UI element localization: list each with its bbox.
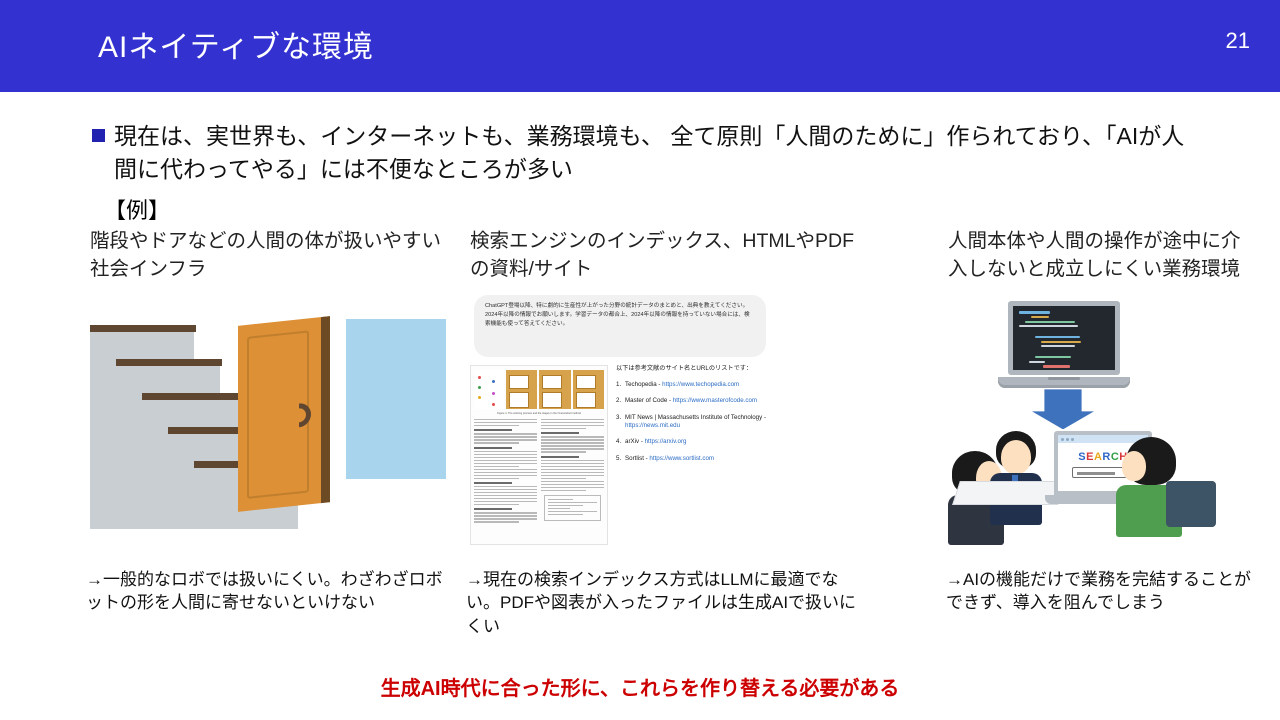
list-item: 2. Master of Code - https://www.masterof… xyxy=(616,397,770,405)
pdf-screenshot-strip-2 xyxy=(539,370,570,409)
pdf-page-thumbnail: Figure 1: The working process and the st… xyxy=(470,365,608,545)
list-item-label: Sortlist - xyxy=(625,455,649,462)
pdf-figure-row xyxy=(471,366,607,412)
slide-header: AIネイティブな環境 21 xyxy=(0,0,1280,92)
laptop-with-code-icon xyxy=(1008,301,1120,388)
list-item-label: Master of Code - xyxy=(625,397,673,404)
list-item-number: 5. xyxy=(616,455,625,463)
chat-prompt-bubble: ChatGPT登場以降、特に劇的に生産性が上がった分野の統計データのまとめと、出… xyxy=(474,295,766,357)
list-item-number: 3. xyxy=(616,414,625,431)
column-2-heading: 検索エンジンのインデックス、HTMLやPDFの資料/サイト xyxy=(470,228,870,283)
pdf-flow-diagram xyxy=(474,370,504,409)
door-frame-panel xyxy=(346,319,446,479)
door-shape xyxy=(238,317,330,513)
browser-back-icon[interactable] xyxy=(1061,438,1064,441)
column-2-caption: →現在の検索インデックス方式はLLMに最適でない。PDFや図表が入ったファイルは… xyxy=(466,568,858,638)
list-item-link[interactable]: https://www.sortlist.com xyxy=(649,455,714,462)
laptop-trackpad xyxy=(1048,377,1080,380)
list-item: 3. MIT News | Massachusetts Institute of… xyxy=(616,414,770,431)
list-item-link[interactable]: https://www.techopedia.com xyxy=(662,381,739,388)
list-item-number: 1. xyxy=(616,381,625,389)
answer-intro: 以下は参考文献のサイト名とURLのリストです： xyxy=(616,365,770,374)
bullet-paragraph: 現在は、実世界も、インターネットも、業務環境も、 全て原則「人間のために」作られ… xyxy=(92,120,1202,185)
list-item-label: MIT News | Massachusetts Institute of Te… xyxy=(625,414,766,421)
column-3-caption: →AIの機能だけで業務を完結することができず、導入を阻んでしまう xyxy=(946,568,1264,615)
laptop-base xyxy=(998,377,1130,388)
browser-forward-icon[interactable] xyxy=(1066,438,1069,441)
pdf-body-column-left xyxy=(474,419,537,525)
pdf-body-column-right xyxy=(541,419,604,525)
column-3-heading: 人間本体や人間の操作が途中に介入しないと成立しにくい業務環境 xyxy=(948,228,1248,283)
chat-and-pdf-screenshot: ChatGPT登場以降、特に劇的に生産性が上がった分野の統計データのまとめと、出… xyxy=(470,295,770,545)
browser-reload-icon[interactable] xyxy=(1071,438,1074,441)
list-item-label: Techopedia - xyxy=(625,381,662,388)
column-1: 階段やドアなどの人間の体が扱いやすい社会インフラ xyxy=(90,228,460,530)
footer-conclusion: 生成AI時代に合った形に、これらを作り替える必要がある xyxy=(0,672,1280,701)
door-handle-icon xyxy=(299,403,311,428)
column-3: 人間本体や人間の操作が途中に介入しないと成立しにくい業務環境 xyxy=(948,228,1248,540)
column-2: 検索エンジンのインデックス、HTMLやPDFの資料/サイト ChatGPT登場以… xyxy=(470,228,870,545)
search-logo-letter: S xyxy=(1078,451,1086,463)
office-chair xyxy=(1166,481,1216,527)
list-item: 1. Techopedia - https://www.techopedia.c… xyxy=(616,381,770,389)
column-1-heading: 階段やドアなどの人間の体が扱いやすい社会インフラ xyxy=(90,228,460,283)
list-item-label: arXiv - xyxy=(625,438,645,445)
pdf-screenshot-strip-1 xyxy=(506,370,537,409)
list-item-number: 4. xyxy=(616,438,625,446)
laptop-screen xyxy=(1008,301,1120,375)
list-item: 5. Sortlist - https://www.sortlist.com xyxy=(616,455,770,463)
pdf-body-columns xyxy=(471,416,607,528)
list-item-link[interactable]: https://www.masterofcode.com xyxy=(673,397,757,404)
list-item-link[interactable]: https://arxiv.org xyxy=(645,438,687,445)
example-label: 【例】 xyxy=(104,193,170,225)
page-number: 21 xyxy=(1226,28,1250,54)
slide-root: AIネイティブな環境 21 現在は、実世界も、インターネットも、業務環境も、 全… xyxy=(0,0,1280,720)
list-item-number: 2. xyxy=(616,397,625,405)
page-title: AIネイティブな環境 xyxy=(98,22,374,66)
pdf-screenshot-strip-3 xyxy=(573,370,604,409)
answer-reference-list: 以下は参考文献のサイト名とURLのリストです： 1. Techopedia - … xyxy=(616,365,770,471)
list-item: 4. arXiv - https://arxiv.org xyxy=(616,438,770,446)
pdf-inset-box xyxy=(544,495,601,521)
search-logo-letter: R xyxy=(1102,451,1110,463)
bullet-square-icon xyxy=(92,129,105,142)
laptop-and-office-workers-illustration: SEARCH xyxy=(948,295,1248,540)
search-logo-letter: E xyxy=(1086,451,1094,463)
bullet-text: 現在は、実世界も、インターネットも、業務環境も、 全て原則「人間のために」作られ… xyxy=(114,120,1202,185)
down-arrow-icon xyxy=(1032,389,1094,429)
column-1-caption: →一般的なロボでは扱いにくい。わざわざロボットの形を人間に寄せないといけない xyxy=(86,568,456,615)
list-item-link[interactable]: https://news.mit.edu xyxy=(625,422,680,429)
stairs-and-door-illustration xyxy=(90,295,460,530)
